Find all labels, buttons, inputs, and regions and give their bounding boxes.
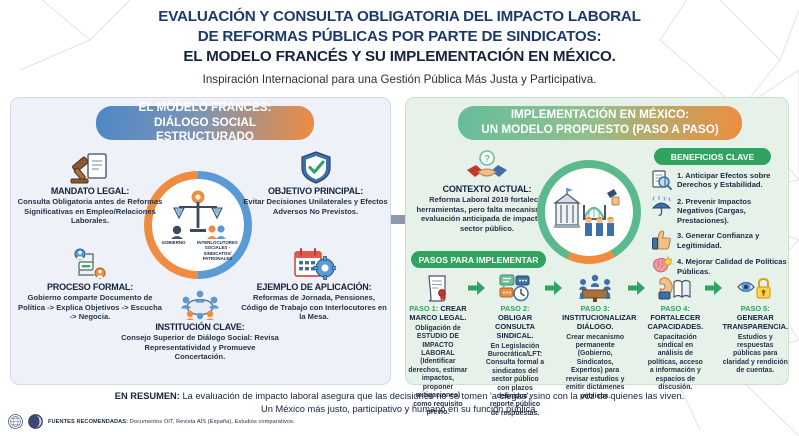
meeting-table-icon [562,273,628,303]
handshake-question-icon: ? [414,148,560,182]
summary-label: EN RESUMEN: [115,391,180,401]
step-heading-4: PASO 4: FORTALECER CAPACIDADES. [645,305,705,332]
beneficios-clave-list: 1. Anticipar Efectos sobre Derechos y Es… [649,169,789,281]
center-ring-right-content [545,168,633,256]
round-table-icon [119,286,281,320]
infographic-root: EVALUACIÓN Y CONSULTA OBLIGATORIA DEL IM… [0,0,799,436]
umbrella-rain-icon [649,195,673,217]
center-ring-left-captions: GOBIERNO INTERLOCUTORES SOCIALES - SINDI… [156,240,241,260]
summary-line-1: EN RESUMEN: La evaluación de impacto lab… [0,390,799,403]
page-title: EVALUACIÓN Y CONSULTA OBLIGATORIA DEL IM… [0,0,799,86]
panel-modelo-frances: EL MODELO FRANCÉS: DIÁLOGO SOCIAL ESTRUC… [10,97,391,385]
benefit-text: 2. Prevenir Impactos Negativos (Cargas, … [677,195,789,225]
balance-scale-icon [167,189,229,239]
step-number-2: PASO 2: [500,304,529,313]
item-objetivo-principal-heading: OBJETIVO PRINCIPAL: [243,186,388,196]
document-magnifier-icon [649,169,673,191]
item-objetivo-principal-body: Evitar Decisiones Unilaterales y Efectos… [243,197,388,216]
step-arrow-4-icon [705,273,722,303]
step-item-3: PASO 3: INSTITUCIONALIZAR DIÁLOGO. Crear… [562,273,628,401]
item-mandato-legal: MANDATO LEGAL: Consulta Obligatoria ante… [17,150,163,226]
step-number-5: PASO 5: [741,304,770,313]
step-title-4: FORTALECER CAPACIDADES. [647,313,703,331]
benefit-item: 3. Generar Confianza y Legitimidad. [649,229,789,251]
step-title-5: GENERAR TRANSPARENCIA. [722,313,788,331]
process-flow-icon [17,246,163,280]
step-heading-5: PASO 5: GENERAR TRANSPARENCIA. [722,305,788,332]
thumbs-up-icon [649,229,673,251]
step-title-2: OBLIGAR CONSULTA SINDICAL. [495,313,535,340]
banner-right-line1: IMPLEMENTACIÓN EN MÉXICO: [481,108,718,123]
gavel-document-icon [17,150,163,184]
step-title-3: INSTITUCIONALIZAR DIÁLOGO. [562,313,636,331]
item-institucion-clave: INSTITUCIÓN CLAVE: Consejo Superior de D… [119,286,281,362]
step-arrow-2-icon [545,273,562,303]
step-arrow-1-icon [468,273,485,303]
title-line-1: EVALUACIÓN Y CONSULTA OBLIGATORIA DEL IM… [0,7,799,27]
banner-left-line2: DIÁLOGO SOCIAL ESTRUCTURADO [106,116,304,145]
step-heading-2: PASO 2: OBLIGAR CONSULTA SINDICAL. [485,305,545,341]
benefit-text: 3. Generar Confianza y Legitimidad. [677,229,789,250]
page-subtitle: Inspiración Internacional para una Gesti… [0,73,799,86]
caption-interlocutores: INTERLOCUTORES SOCIALES - SINDICATOS/ PA… [195,240,241,260]
summary-text: La evaluación de impacto laboral asegura… [180,391,684,401]
item-mandato-legal-heading: MANDATO LEGAL: [17,186,163,196]
chat-clock-icon [485,273,545,303]
beneficios-clave-title: BENEFICIOS CLAVE [654,148,771,165]
center-ring-right [537,160,641,264]
step-body-4: Capacitación sindical en análisis de pol… [645,334,705,393]
sources-text: FUENTES RECOMENDADAS: Documentos OIT, Re… [48,419,295,425]
step-number-4: PASO 4: [661,304,690,313]
ilo-logo-icon [8,414,23,429]
step-heading-3: PASO 3: INSTITUCIONALIZAR DIÁLOGO. [562,305,628,332]
eye-lock-icon [722,273,788,303]
step-item-4: PASO 4: FORTALECER CAPACIDADES. Capacita… [645,273,705,393]
step-heading-1: PASO 1: CREAR MARCO LEGAL. [408,305,468,323]
step-number-3: PASO 3: [581,304,610,313]
banner-implementacion-mexico: IMPLEMENTACIÓN EN MÉXICO: UN MODELO PROP… [458,106,742,140]
item-institucion-clave-heading: INSTITUCIÓN CLAVE: [119,322,281,332]
summary-block: EN RESUMEN: La evaluación de impacto lab… [0,390,799,417]
item-contexto-actual-heading: CONTEXTO ACTUAL: [414,184,560,194]
sources-value: Documentos OIT, Revista AIS (España), Es… [128,419,295,425]
sources-block: FUENTES RECOMENDADAS: Documentos OIT, Re… [8,414,295,429]
banner-modelo-frances: EL MODELO FRANCÉS: DIÁLOGO SOCIAL ESTRUC… [96,106,314,140]
shield-check-icon [243,150,388,184]
strong-arm-book-icon [645,273,705,303]
panel-implementacion-mexico: IMPLEMENTACIÓN EN MÉXICO: UN MODELO PROP… [405,97,789,385]
calendar-gear-icon [239,246,389,280]
step-number-1: PASO 1: [409,304,438,313]
svg-text:?: ? [484,154,490,165]
title-line-2: DE REFORMAS PÚBLICAS POR PARTE DE SINDIC… [0,27,799,47]
benefit-item: 2. Prevenir Impactos Negativos (Cargas, … [649,195,789,225]
benefit-text: 1. Anticipar Efectos sobre Derechos y Es… [677,169,789,190]
item-mandato-legal-body: Consulta Obligatoria antes de Reformas S… [17,197,163,226]
center-ring-left-content: GOBIERNO INTERLOCUTORES SOCIALES - SINDI… [152,179,244,271]
step-arrow-3-icon [628,273,645,303]
item-institucion-clave-body: Consejo Superior de Diálogo Social: Revi… [119,333,281,362]
sources-label: FUENTES RECOMENDADAS: [48,419,128,425]
pasos-implementar-title: PASOS PARA IMPLEMENTAR [411,251,546,268]
mexico-public-sector-icon [552,185,626,239]
banner-right-line2: UN MODELO PROPUESTO (PASO A PASO) [481,123,718,138]
step-body-5: Estudios y respuestas públicas para clar… [722,334,788,376]
title-line-3: EL MODELO FRANCÉS Y SU IMPLEMENTACIÓN EN… [0,47,799,67]
benefit-item: 1. Anticipar Efectos sobre Derechos y Es… [649,169,789,191]
organization-logo-icon [28,414,43,429]
item-objetivo-principal: OBJETIVO PRINCIPAL: Evitar Decisiones Un… [243,150,388,216]
panels-container: EL MODELO FRANCÉS: DIÁLOGO SOCIAL ESTRUC… [10,97,789,385]
caption-gobierno: GOBIERNO [156,240,192,260]
legal-scroll-icon [408,273,468,303]
banner-left-line1: EL MODELO FRANCÉS: [106,101,304,116]
step-item-5: PASO 5: GENERAR TRANSPARENCIA. Estudios … [722,273,788,376]
